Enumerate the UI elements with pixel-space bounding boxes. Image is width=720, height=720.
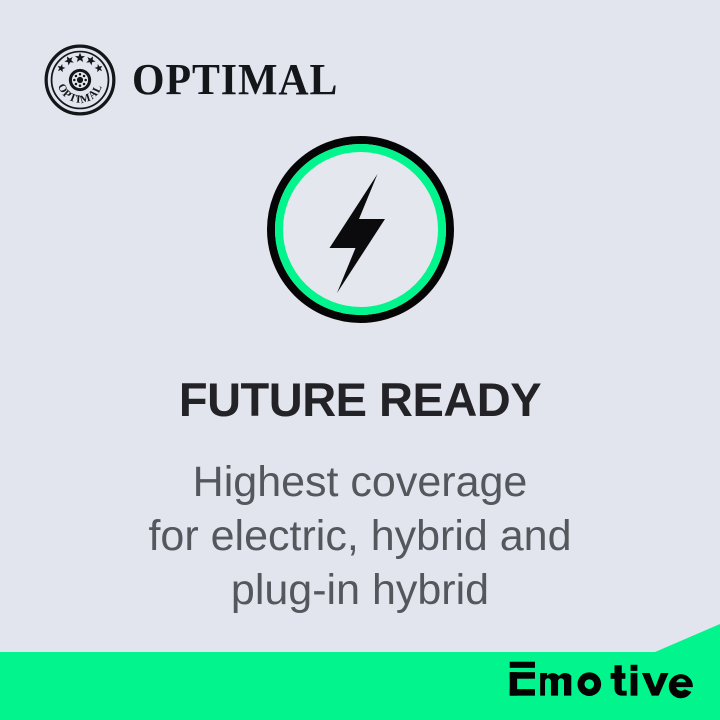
brand-header: OPTIMAL OPTIMAL (44, 44, 349, 116)
subtitle-line-2: for electric, hybrid and (0, 509, 720, 563)
footer-banner: Emotive (0, 624, 720, 720)
subtitle-block: Highest coverage for electric, hybrid an… (0, 455, 720, 618)
emotive-logo-text: Emotive (507, 700, 508, 701)
subtitle-line-1: Highest coverage (0, 455, 720, 509)
poster-canvas: OPTIMAL OPTIMAL (0, 0, 720, 720)
lightning-bolt-in-circle-icon (267, 136, 454, 323)
brand-wordmark: OPTIMAL (132, 58, 338, 102)
optimal-seal-icon: OPTIMAL (44, 44, 116, 116)
emotive-wordmark-icon: Emotive (508, 660, 698, 700)
subtitle-line-3: plug-in hybrid (0, 563, 720, 617)
page-title: FUTURE READY (0, 375, 720, 424)
